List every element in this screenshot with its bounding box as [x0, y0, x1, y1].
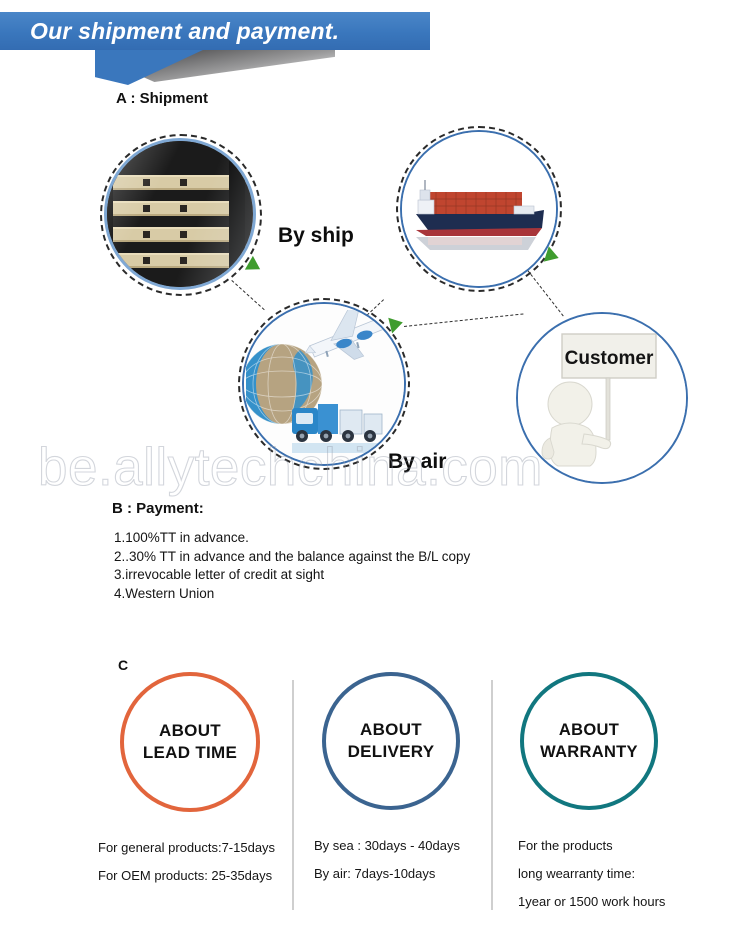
section-b-label: B : Payment:: [112, 500, 204, 517]
header-banner: Our shipment and payment.: [0, 0, 750, 100]
section-a-label: A : Shipment: [116, 90, 208, 107]
page-title: Our shipment and payment.: [30, 13, 430, 49]
ring-lead-time: ABOUT LEAD TIME: [120, 672, 260, 812]
shipment-diagram: Customer By ship By air: [0, 120, 750, 490]
lead-time-line-2: For OEM products: 25-35days: [98, 862, 294, 890]
warranty-line-1: For the products: [518, 832, 696, 860]
ring-delivery: ABOUT DELIVERY: [322, 672, 460, 810]
warranty-line-3: 1year or 1500 work hours: [518, 888, 696, 916]
circle-customer: Customer: [516, 312, 688, 484]
ring-title-line1: ABOUT: [540, 719, 638, 741]
ring-title-line1: ABOUT: [143, 720, 237, 742]
ring-title-line2: WARRANTY: [540, 741, 638, 763]
ring-warranty: ABOUT WARRANTY: [520, 672, 658, 810]
ring-title-line2: DELIVERY: [348, 741, 435, 763]
list-item: 1.100%TT in advance.: [114, 529, 634, 548]
label-by-air: By air: [388, 450, 446, 474]
delivery-line-2: By air: 7days-10days: [314, 860, 496, 888]
list-item: 2..30% TT in advance and the balance aga…: [114, 548, 634, 567]
list-item: 3.irrevocable letter of credit at sight: [114, 566, 634, 585]
customer-sign-text: Customer: [565, 348, 654, 369]
pallets-image: [107, 141, 253, 287]
warranty-line-2: long wearranty time:: [518, 860, 696, 888]
label-by-ship: By ship: [278, 224, 354, 248]
column-delivery: ABOUT DELIVERY By sea : 30days - 40days …: [300, 672, 496, 888]
payment-terms-list: 1.100%TT in advance. 2..30% TT in advanc…: [114, 529, 634, 603]
delivery-lines: By sea : 30days - 40days By air: 7days-1…: [314, 832, 496, 888]
column-lead-time: ABOUT LEAD TIME For general products:7-1…: [98, 672, 294, 890]
info-columns: ABOUT LEAD TIME For general products:7-1…: [0, 672, 750, 922]
globe-plane-truck-icon: [246, 310, 406, 462]
ring-title-line2: LEAD TIME: [143, 742, 237, 764]
delivery-line-1: By sea : 30days - 40days: [314, 832, 496, 860]
circle-pallets-photo: [104, 138, 256, 290]
warranty-lines: For the products long wearranty time: 1y…: [518, 832, 696, 916]
circle-air-transport: [242, 302, 406, 466]
customer-figure-icon: Customer: [528, 328, 680, 474]
column-warranty: ABOUT WARRANTY For the products long wea…: [500, 672, 696, 916]
ring-title-line1: ABOUT: [348, 719, 435, 741]
connector-air-to-customer: [404, 313, 523, 327]
section-c-label: C: [118, 657, 128, 673]
container-ship-icon: [410, 176, 552, 254]
circle-container-ship: [400, 130, 558, 288]
lead-time-line-1: For general products:7-15days: [98, 834, 294, 862]
list-item: 4.Western Union: [114, 585, 634, 604]
lead-time-lines: For general products:7-15days For OEM pr…: [98, 834, 294, 890]
